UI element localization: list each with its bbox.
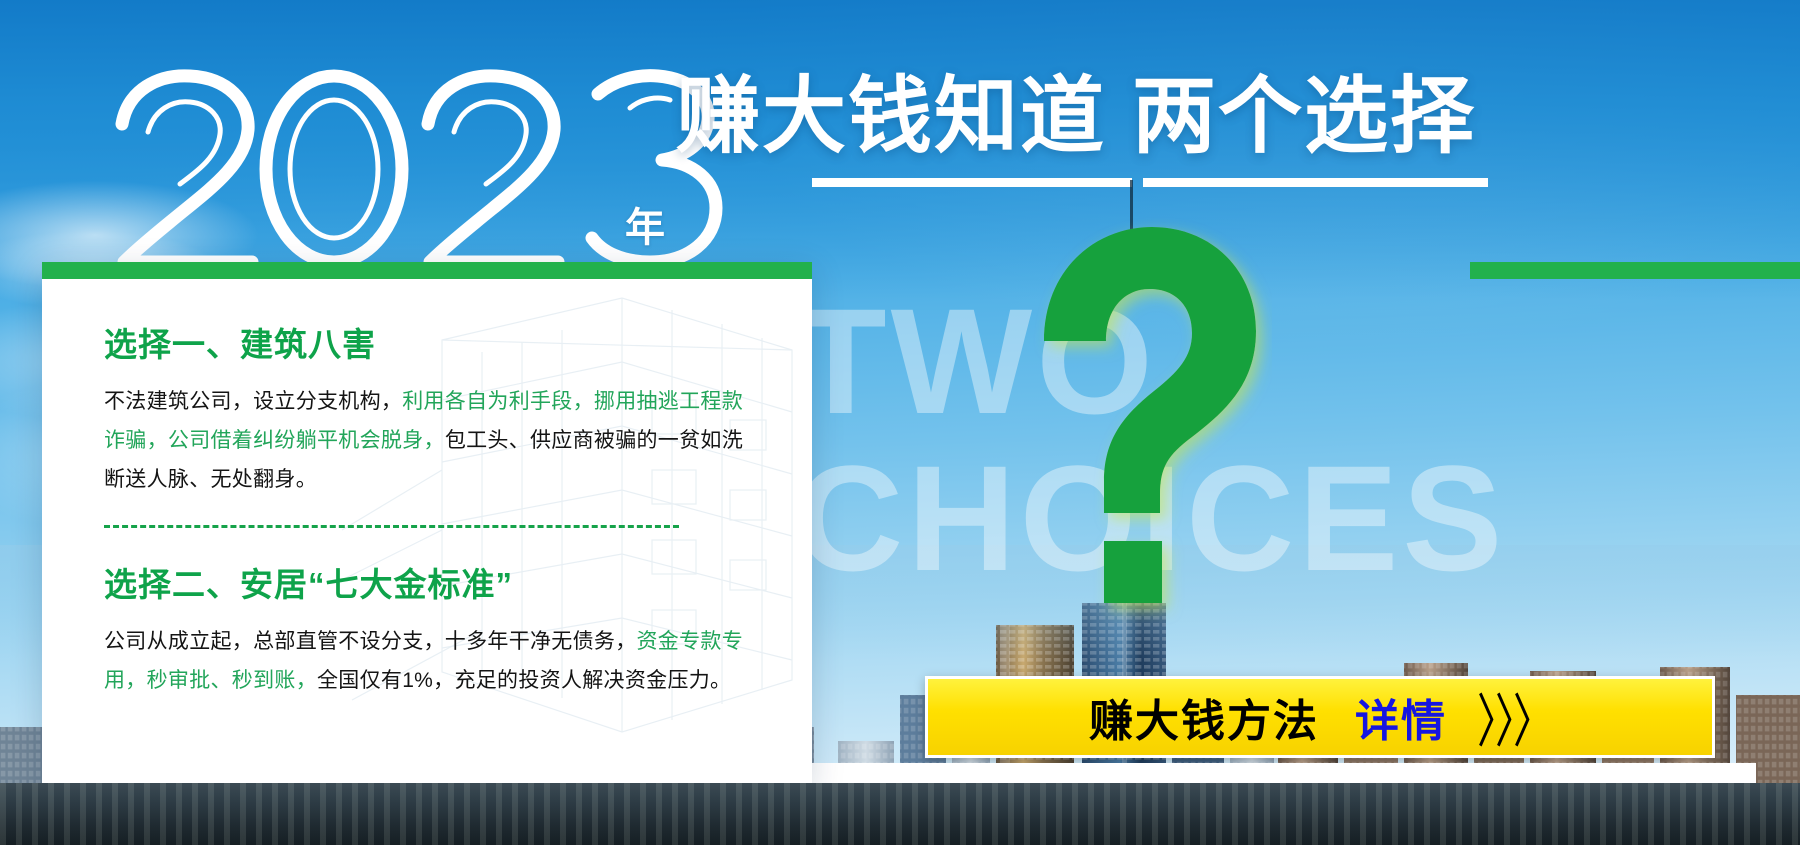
water-shimmer	[0, 783, 1800, 845]
section1-body: 不法建筑公司，设立分支机构，利用各自为利手段，挪用抽逃工程款诈骗，公司借着纠纷躺…	[104, 382, 758, 499]
section2-line2-green: 用，秒审批、秒到账，	[104, 669, 317, 692]
headline-part2: 两个选择	[1132, 69, 1476, 163]
content-card: 选择一、建筑八害 不法建筑公司，设立分支机构，利用各自为利手段，挪用抽逃工程款诈…	[42, 262, 812, 785]
section-divider	[104, 525, 679, 528]
cta-main-label: 赚大钱方法	[1089, 685, 1319, 749]
headline-divider-vertical	[1130, 180, 1133, 250]
section1-line1-black: 不法建筑公司，设立分支机构，	[104, 390, 402, 413]
page-title: 赚大钱知道两个选择	[676, 74, 1476, 160]
waterfront-strip	[0, 783, 1800, 845]
green-accent-strip	[1470, 262, 1800, 279]
chevron-right-icon: 〉〉〉	[1477, 675, 1551, 759]
section2-title: 选择二、安居“七大金标准”	[104, 558, 758, 606]
cta-link-label: 详情	[1355, 685, 1447, 749]
section1-line2-green: 诈骗，公司借着纠纷躺平机会脱身，	[104, 429, 445, 452]
section2-line1-green: 资金专款专	[637, 630, 744, 653]
cta-button[interactable]: 赚大钱方法 详情 〉〉〉	[925, 676, 1715, 758]
section2-line2-black: 全国仅有1%，充足的投资人解决资金压力。	[317, 669, 731, 692]
section2-body: 公司从成立起，总部直管不设分支，十多年干净无债务，资金专款专用，秒审批、秒到账，…	[104, 622, 758, 700]
section1-line3-black: 断送人脉、无处翻身。	[104, 468, 317, 491]
year-suffix-label: 年	[625, 195, 666, 253]
headline-part1: 赚大钱知道	[676, 69, 1106, 163]
section1-line2-black: 包工头、供应商被骗的一贫如洗	[445, 429, 743, 452]
headline-rule-right	[1143, 178, 1488, 187]
headline-rule-left	[812, 178, 1132, 187]
poster-stage: 年 赚大钱知道两个选择 TWO CHOICES 赚大钱方法 详情 〉〉〉	[0, 0, 1800, 845]
section2-line1-black: 公司从成立起，总部直管不设分支，十多年干净无债务，	[104, 630, 637, 653]
section1-line1-green: 利用各自为利手段，挪用抽逃工程款	[402, 390, 743, 413]
section1-title: 选择一、建筑八害	[104, 318, 758, 366]
